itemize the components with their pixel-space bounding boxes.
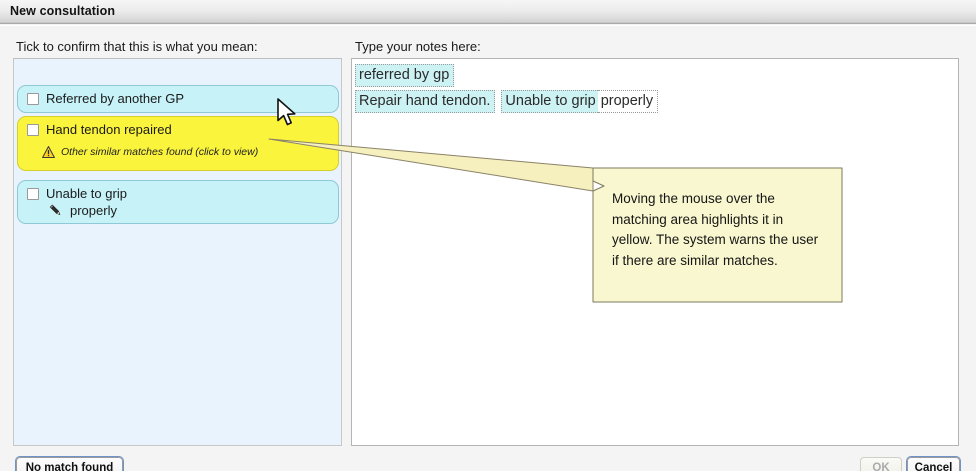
dialog-window: New consultation Tick to confirm that th… [0,0,976,471]
match-item-label: Unable to grip [46,186,127,201]
window-title: New consultation [10,4,115,18]
similar-matches-warning-text: Other similar matches found (click to vi… [61,146,258,158]
cancel-button[interactable]: Cancel [907,457,960,471]
matched-text-chunk[interactable]: Unable to grip [501,90,597,113]
matched-text-chunk[interactable]: referred by gp [355,64,454,87]
match-item-sub-label: properly [70,203,117,218]
title-bar: New consultation [0,0,976,24]
notes-line: referred by gp [355,64,454,87]
mouse-pointer-icon [277,98,299,128]
match-item-row: Referred by another GP [27,91,184,106]
checkbox-referred-by-another-gp[interactable] [27,93,39,105]
match-item-row: Hand tendon repaired [27,122,172,137]
matched-text-chunk[interactable]: Repair hand tendon. [355,90,495,113]
match-item-label: Referred by another GP [46,91,184,106]
match-item-unable-to-grip[interactable]: Unable to grip properly [17,180,339,224]
checkbox-hand-tendon-repaired[interactable] [27,124,39,136]
pencil-icon [48,203,63,218]
warning-triangle-icon [42,146,55,158]
similar-matches-warning[interactable]: Other similar matches found (click to vi… [42,146,258,158]
right-panel-label: Type your notes here: [355,39,481,54]
unmatched-text-chunk[interactable]: properly [598,90,658,113]
checkbox-unable-to-grip[interactable] [27,188,39,200]
ok-button[interactable]: OK [860,457,902,471]
left-panel-label: Tick to confirm that this is what you me… [16,39,258,54]
notes-line: Repair hand tendon. Unable to grip prope… [355,90,658,113]
match-item-sub-row[interactable]: properly [48,203,117,218]
match-item-row: Unable to grip [27,186,127,201]
callout-text: Moving the mouse over the matching area … [612,189,827,271]
annotation-callout: Moving the mouse over the matching area … [590,164,846,306]
no-match-found-button[interactable]: No match found [16,457,123,471]
match-item-label: Hand tendon repaired [46,122,172,137]
